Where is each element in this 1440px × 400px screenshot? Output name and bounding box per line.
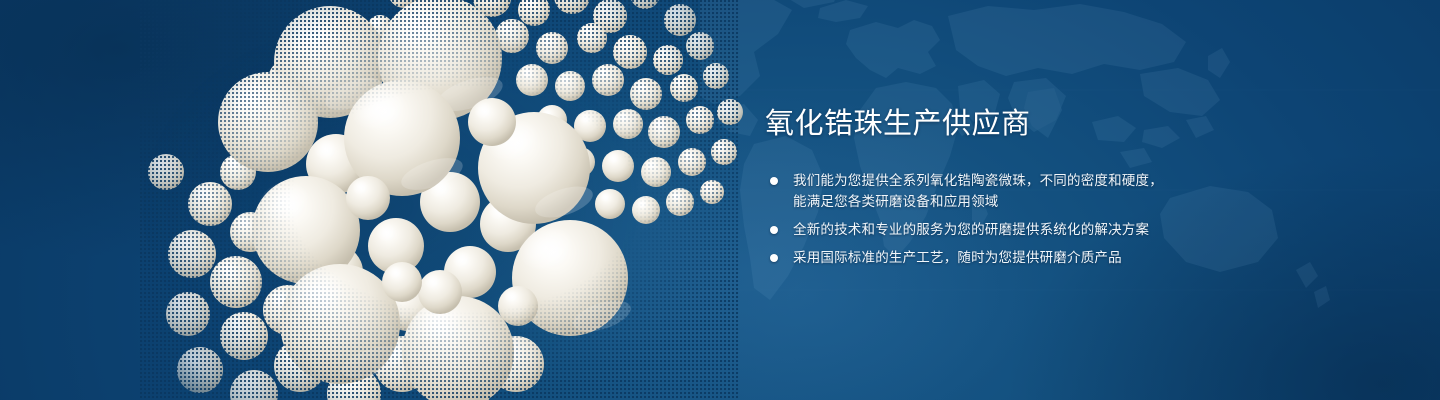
list-item: 全新的技术和专业的服务为您的研磨提供系统化的解决方案 [765,219,1365,240]
bullet-line: 采用国际标准的生产工艺，随时为您提供研磨介质产品 [793,247,1365,268]
bullet-line: 我们能为您提供全系列氧化锆陶瓷微珠，不同的密度和硬度， [793,170,1365,191]
bullet-dot-icon [770,177,778,185]
list-item: 采用国际标准的生产工艺，随时为您提供研磨介质产品 [765,247,1365,268]
bullet-dot-icon [770,226,778,234]
bullet-line: 全新的技术和专业的服务为您的研磨提供系统化的解决方案 [793,219,1365,240]
list-item: 我们能为您提供全系列氧化锆陶瓷微珠，不同的密度和硬度， 能满足您各类研磨设备和应… [765,170,1365,212]
bullet-dot-icon [770,254,778,262]
hero-banner: 氧化锆珠生产供应商 我们能为您提供全系列氧化锆陶瓷微珠，不同的密度和硬度， 能满… [0,0,1440,400]
feature-bullet-list: 我们能为您提供全系列氧化锆陶瓷微珠，不同的密度和硬度， 能满足您各类研磨设备和应… [765,170,1365,268]
banner-text-block: 氧化锆珠生产供应商 我们能为您提供全系列氧化锆陶瓷微珠，不同的密度和硬度， 能满… [765,104,1365,268]
page-title: 氧化锆珠生产供应商 [765,104,1365,144]
bullet-line: 能满足您各类研磨设备和应用领域 [793,191,1365,212]
